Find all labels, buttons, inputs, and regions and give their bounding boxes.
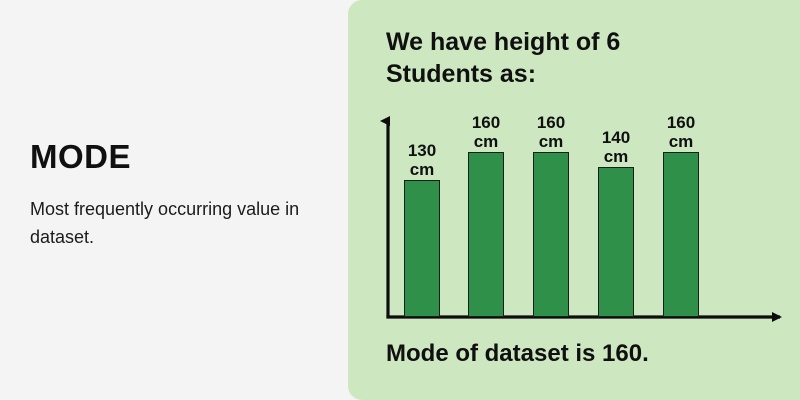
example-panel: We have height of 6 Students as: [348,0,800,400]
infographic-root: MODE Most frequently occurring value in … [0,0,800,400]
bar-1 [404,180,440,317]
bar-3 [533,152,569,317]
bar-label-1: 130 cm [386,141,458,179]
page-title: MODE [30,140,131,173]
bar-4 [598,167,634,317]
bar-label-4: 140 cm [580,128,652,166]
bar-label-3: 160 cm [515,113,587,151]
definition-text: Most frequently occurring value in datas… [30,196,310,252]
mode-result-text: Mode of dataset is 160. [386,340,649,368]
bar-label-2: 160 cm [450,113,522,151]
bar-label-5: 160 cm [645,113,717,151]
bar-2 [468,152,504,317]
bar-5 [663,152,699,317]
definition-panel: MODE Most frequently occurring value in … [0,0,348,400]
